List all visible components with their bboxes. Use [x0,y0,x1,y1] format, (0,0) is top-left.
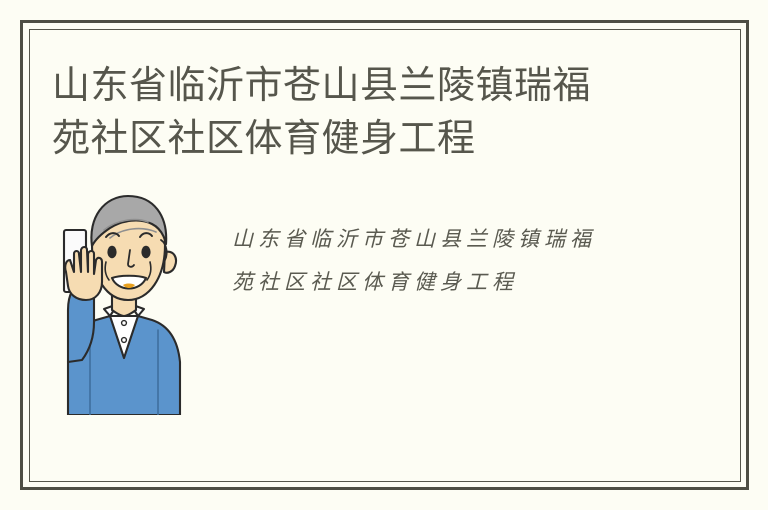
elderly-man-on-phone-graphic [48,190,208,415]
caption-line-2: 苑社区社区体育健身工程 [232,261,662,304]
page-title: 山东省临沂市苍山县兰陵镇瑞福 苑社区社区体育健身工程 [52,60,692,166]
caption-text: 山东省临沂市苍山县兰陵镇瑞福 苑社区社区体育健身工程 [232,218,662,304]
caption-line-1: 山东省临沂市苍山县兰陵镇瑞福 [232,218,662,261]
info-card: 山东省临沂市苍山县兰陵镇瑞福 苑社区社区体育健身工程 [0,0,768,510]
title-line-1: 山东省临沂市苍山县兰陵镇瑞福 [52,60,692,113]
title-line-2: 苑社区社区体育健身工程 [52,113,692,166]
elderly-man-on-phone-illustration [48,190,208,415]
